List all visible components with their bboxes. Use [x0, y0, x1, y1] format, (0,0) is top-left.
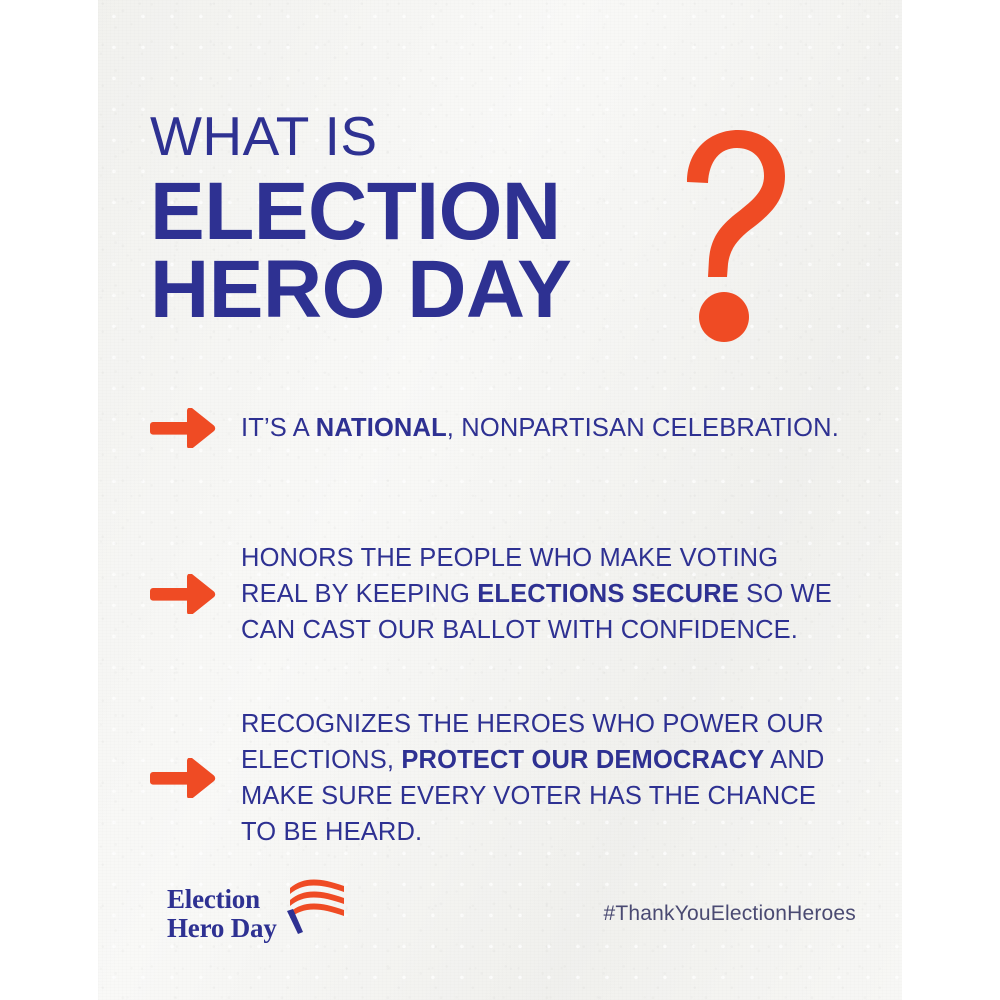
bullet-text-1: IT’S A NATIONAL, NONPARTISAN CELEBRATION…	[241, 410, 839, 446]
body-text: IT’S A	[241, 414, 316, 442]
bullet-text-3: RECOGNIZES THE HEROES WHO POWER OUR ELEC…	[241, 706, 841, 850]
arrow-right-icon	[150, 758, 216, 798]
poster-content: WHAT IS ELECTION HERO DAY IT’S A NATIONA…	[0, 0, 1000, 1000]
headline-line-1: WHAT IS	[150, 108, 790, 164]
body-text: , NONPARTISAN CELEBRATION.	[447, 414, 839, 442]
list-item: HONORS THE PEOPLE WHO MAKE VOTING REAL B…	[150, 540, 880, 648]
logo-line-1: Election	[167, 886, 277, 913]
bullet-text-2: HONORS THE PEOPLE WHO MAKE VOTING REAL B…	[241, 540, 851, 648]
arrow-right-icon	[150, 408, 216, 448]
waving-flag-icon	[286, 878, 348, 934]
bullet-list: IT’S A NATIONAL, NONPARTISAN CELEBRATION…	[150, 400, 880, 850]
list-item: IT’S A NATIONAL, NONPARTISAN CELEBRATION…	[150, 408, 880, 448]
election-hero-day-logo[interactable]: Election Hero Day	[167, 880, 348, 942]
list-item: RECOGNIZES THE HEROES WHO POWER OUR ELEC…	[150, 706, 880, 850]
logo-wordmark: Election Hero Day	[167, 880, 277, 942]
footer: Election Hero Day #ThankYouElectionHeroe…	[150, 880, 880, 950]
emphasis-text: ELECTIONS SECURE	[477, 580, 739, 608]
headline-line-3: HERO DAY	[150, 251, 790, 329]
emphasis-text: NATIONAL	[316, 414, 447, 442]
arrow-right-icon	[150, 574, 216, 614]
hashtag-text: #ThankYouElectionHeroes	[604, 902, 857, 926]
headline-line-2: ELECTION	[150, 173, 790, 251]
logo-line-2: Hero Day	[167, 915, 277, 942]
poster-canvas: WHAT IS ELECTION HERO DAY IT’S A NATIONA…	[0, 0, 1000, 1000]
headline-block: WHAT IS ELECTION HERO DAY	[150, 108, 790, 329]
emphasis-text: PROTECT OUR DEMOCRACY	[401, 746, 764, 774]
